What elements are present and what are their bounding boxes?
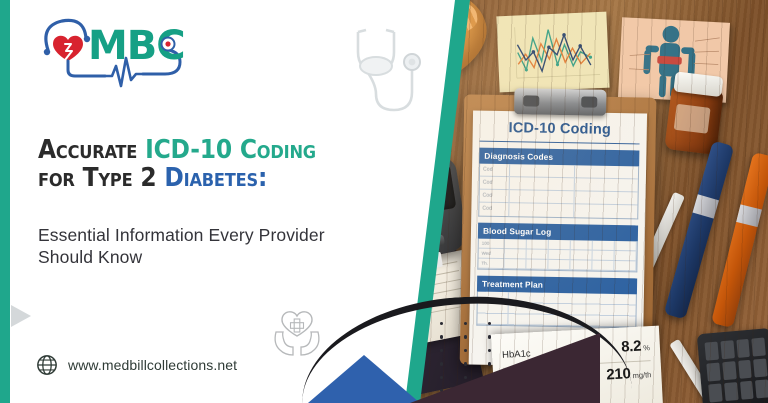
- lab-unit: mg/th: [632, 370, 651, 380]
- headline-line1-highlight: ICD-10 Coding: [145, 135, 316, 165]
- table-row: Cod: [479, 203, 637, 219]
- row-cell: [574, 178, 638, 191]
- headline-line2-highlight: Diabetes:: [164, 163, 267, 193]
- row-label: 100: [479, 239, 505, 248]
- row-label: Cod: [480, 164, 510, 177]
- row-label: Cod: [479, 203, 509, 217]
- subtitle: Essential Information Every Provider Sho…: [38, 224, 338, 269]
- left-teal-edge-bar: [0, 0, 10, 403]
- stethoscope-icon: [336, 22, 436, 122]
- blood-sugar-line-chart-note: [496, 12, 609, 93]
- row-cell: [574, 165, 638, 178]
- banner-root: 185 mc ICD-10 Coding Diagnosis Codes Cod: [0, 0, 768, 403]
- triangle-arrow-icon: [11, 305, 31, 327]
- headline-line2-plain: for Type 2: [38, 163, 164, 193]
- calculator: [697, 328, 768, 403]
- headline-line2: for Type 2 Diabetes:: [38, 164, 398, 192]
- url-text: www.medbillcollections.net: [68, 357, 237, 373]
- page-title: Accurate ICD-10 Coding for Type 2 Diabet…: [38, 136, 398, 192]
- row-cell: [510, 177, 575, 190]
- row-label: Th.: [478, 259, 504, 268]
- lab-unit: %: [643, 343, 650, 352]
- row-cell: [574, 191, 638, 204]
- website-url[interactable]: www.medbillcollections.net: [36, 354, 237, 376]
- headline-line1-plain: Accurate: [38, 135, 145, 165]
- clipboard-clip: [514, 88, 606, 116]
- caring-hands-heart-icon: [268, 306, 326, 358]
- row-label: Wed: [479, 249, 505, 258]
- row-label: Cod: [480, 177, 510, 190]
- diagnosis-codes-rows: Cod Cod Cod Cod: [478, 164, 639, 220]
- form-title: ICD-10 Coding: [480, 120, 640, 145]
- blood-sugar-log-rows: 100 Wed Th.: [477, 239, 638, 273]
- row-cell: [509, 190, 574, 203]
- lab-value-group: 8.2%: [621, 337, 651, 356]
- lab-value: 8.2: [621, 338, 642, 356]
- mbc-logo[interactable]: MBC: [30, 12, 195, 90]
- row-cell: [509, 203, 574, 217]
- globe-icon: [36, 354, 58, 376]
- row-cell: [510, 164, 575, 177]
- row-label: Cod: [480, 190, 510, 203]
- row-cell: [574, 204, 638, 218]
